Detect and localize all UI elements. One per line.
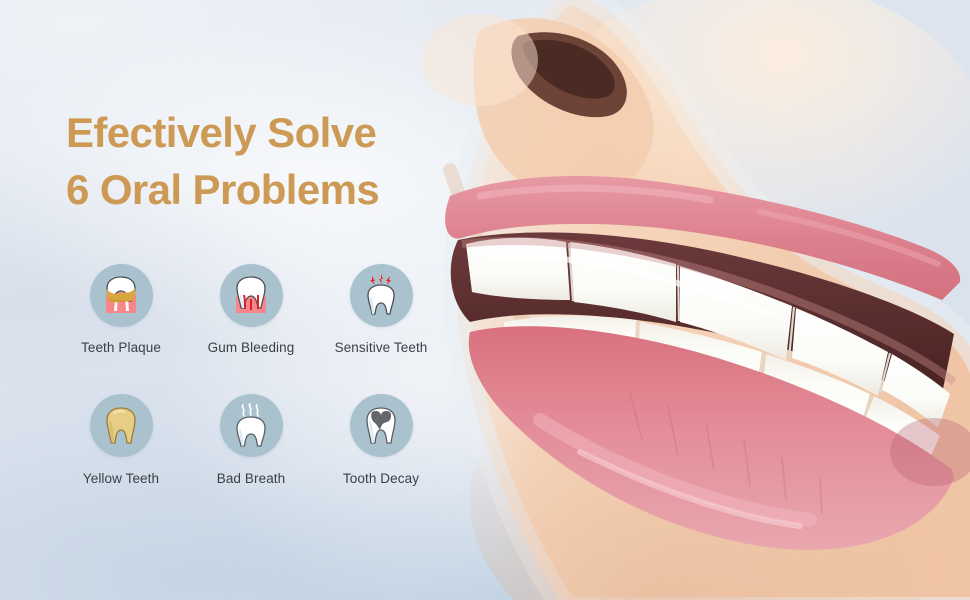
- icon-circle: [350, 394, 413, 457]
- problem-label: Bad Breath: [217, 471, 286, 486]
- icon-circle: [90, 264, 153, 327]
- icon-circle: [220, 264, 283, 327]
- tooth-decay-icon: [359, 403, 403, 449]
- problem-item-bad-breath[interactable]: Bad Breath: [186, 394, 316, 524]
- problem-label: Teeth Plaque: [81, 340, 161, 355]
- tooth-plaque-icon: [99, 273, 143, 319]
- icon-circle: [350, 264, 413, 327]
- sensitive-teeth-icon: [359, 273, 403, 319]
- bad-breath-icon: [229, 403, 273, 449]
- problem-label: Sensitive Teeth: [335, 340, 428, 355]
- gum-bleeding-icon: [229, 273, 273, 319]
- icon-circle: [90, 394, 153, 457]
- odor-wave-icon: [242, 404, 258, 416]
- oral-problems-banner: Efectively Solve 6 Oral Problems T: [0, 0, 970, 600]
- problem-item-sensitive-teeth[interactable]: Sensitive Teeth: [316, 264, 446, 394]
- icon-circle: [220, 394, 283, 457]
- problem-label: Yellow Teeth: [83, 471, 159, 486]
- problem-item-teeth-plaque[interactable]: Teeth Plaque: [56, 264, 186, 394]
- problem-label: Gum Bleeding: [208, 340, 295, 355]
- problem-label: Tooth Decay: [343, 471, 419, 486]
- page-title: Efectively Solve 6 Oral Problems: [66, 104, 486, 218]
- problem-item-yellow-teeth[interactable]: Yellow Teeth: [56, 394, 186, 524]
- yellow-teeth-icon: [99, 403, 143, 449]
- problem-item-tooth-decay[interactable]: Tooth Decay: [316, 394, 446, 524]
- oral-problems-grid: Teeth Plaque Gum Bleeding: [56, 264, 446, 524]
- problem-item-gum-bleeding[interactable]: Gum Bleeding: [186, 264, 316, 394]
- pain-zap-icons: [370, 274, 391, 285]
